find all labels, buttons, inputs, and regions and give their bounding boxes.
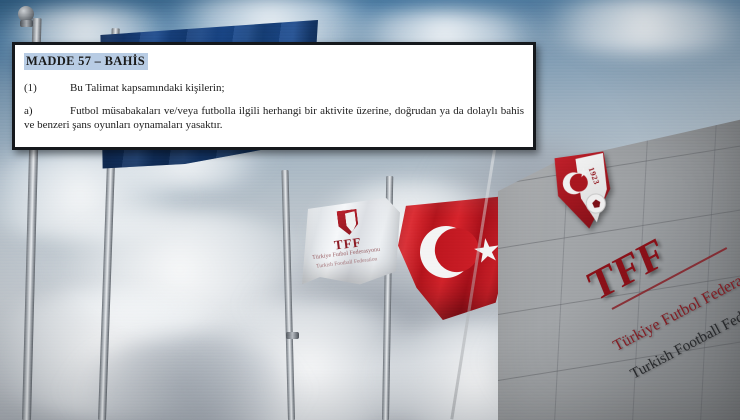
cloud: [520, 0, 740, 54]
document-overlay: MADDE 57 – BAHİS (1)Bu Talimat kapsamınd…: [12, 42, 536, 150]
paragraph-text: Bu Talimat kapsamındaki kişilerin;: [70, 82, 225, 94]
flagpole-collar: [286, 332, 299, 339]
document-paragraph: a)Futbol müsabakaları ve/veya futbolla i…: [24, 104, 524, 132]
tff-crest-icon: 1923: [551, 149, 617, 232]
document-paragraph: (1)Bu Talimat kapsamındaki kişilerin;: [24, 81, 524, 95]
wall-seam: [699, 118, 717, 420]
paragraph-label: a): [24, 104, 70, 118]
tff-flag: TFF Türkiye Futbol Federasyonu Turkish F…: [300, 196, 400, 288]
screenshot-stage: FIFA For the Game. For the World. TFF Tü…: [0, 0, 740, 420]
tff-crest-icon: [337, 209, 360, 236]
flagpole-collar: [20, 20, 33, 27]
paragraph-text: Futbol müsabakaları ve/veya futbolla ilg…: [24, 105, 524, 131]
document-title: MADDE 57 – BAHİS: [24, 53, 148, 70]
paragraph-label: (1): [24, 81, 70, 95]
wall-seam: [498, 206, 740, 249]
crescent-icon: [416, 222, 476, 282]
